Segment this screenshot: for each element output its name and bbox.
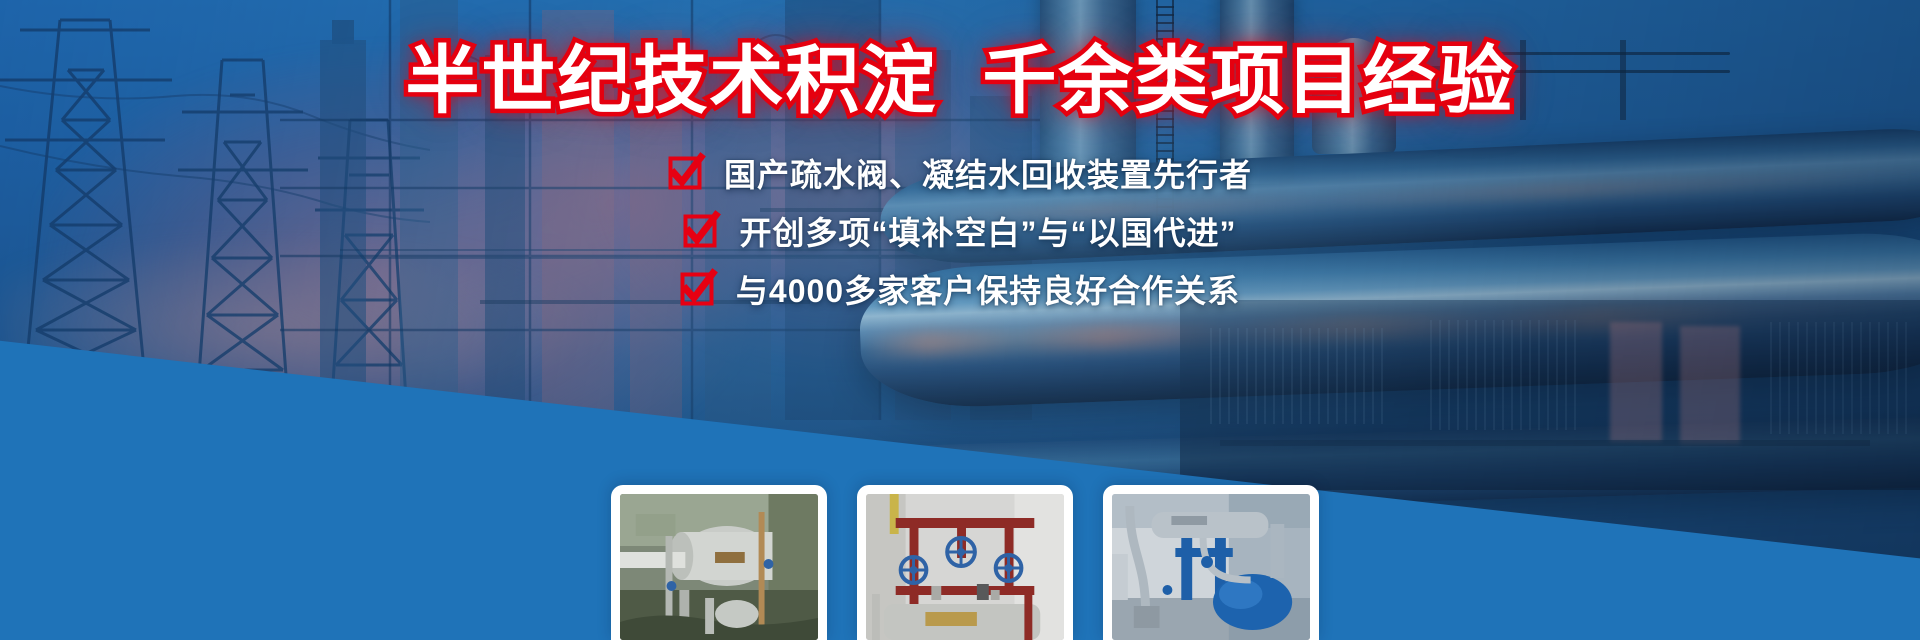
benefit-item: 国产疏水阀、凝结水回收装置先行者: [668, 150, 1252, 196]
benefit-text: 开创多项“填补空白”与“以国代进”: [739, 208, 1236, 254]
benefit-item: 开创多项“填补空白”与“以国代进”: [683, 208, 1236, 254]
thumbnail-photo: [866, 494, 1064, 640]
product-thumbnail-strip: [0, 485, 1920, 640]
promo-banner: 半世纪技术积淀 千余类项目经验 国产疏水阀、凝结水回收装置先行者: [0, 0, 1920, 640]
checkbox-checked-icon: [683, 214, 717, 248]
benefits-list: 国产疏水阀、凝结水回收装置先行者 开创多项“填补空白”与“以国代进”: [0, 150, 1920, 312]
benefit-item: 与4000多家客户保持良好合作关系: [680, 266, 1240, 312]
benefit-text: 与4000多家客户保持良好合作关系: [736, 266, 1240, 312]
thumbnail-condensate-recovery-unit[interactable]: [1103, 485, 1319, 640]
thumbnail-valve-manifold[interactable]: [857, 485, 1073, 640]
thumbnail-photo: [1112, 494, 1310, 640]
benefit-text: 国产疏水阀、凝结水回收装置先行者: [724, 150, 1252, 196]
thumbnail-photo: [620, 494, 818, 640]
checkbox-checked-icon: [668, 156, 702, 190]
thumbnail-steam-trap-vessel[interactable]: [611, 485, 827, 640]
checkbox-checked-icon: [680, 272, 714, 306]
banner-content: 半世纪技术积淀 千余类项目经验 国产疏水阀、凝结水回收装置先行者: [0, 0, 1920, 640]
banner-headline: 半世纪技术积淀 千余类项目经验: [0, 40, 1920, 123]
